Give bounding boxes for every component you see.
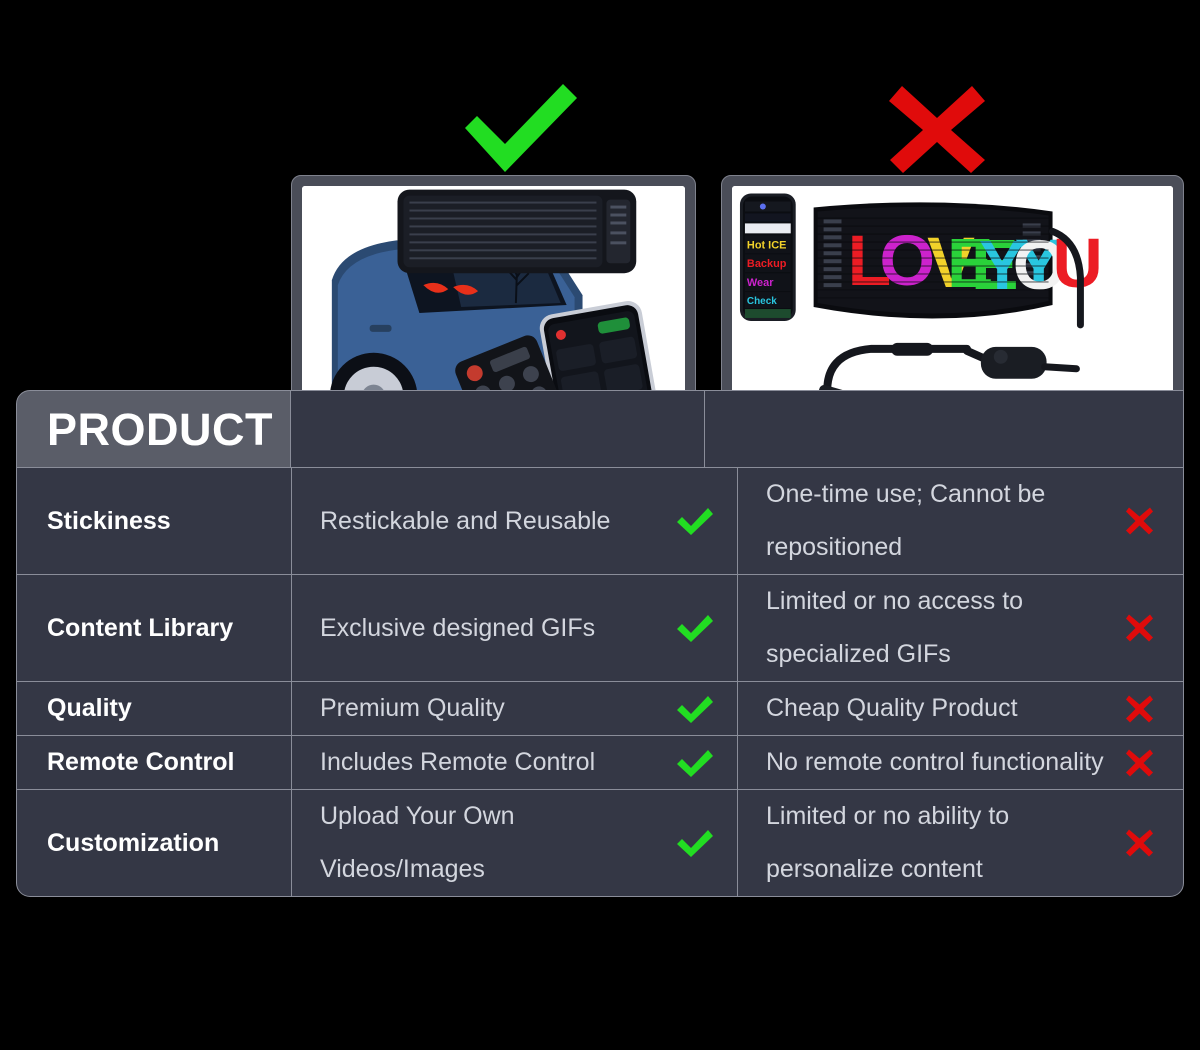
table-row: Remote Control Includes Remote Control N… <box>16 736 1184 790</box>
feature-label: Content Library <box>17 575 292 681</box>
theirs-value-cell: No remote control functionality <box>738 736 1183 789</box>
theirs-value-text: One-time use; Cannot be repositioned <box>766 468 1113 574</box>
red-cross-icon <box>1124 506 1155 537</box>
ours-value-cell: Exclusive designed GIFs <box>292 575 738 681</box>
theirs-value-text: Cheap Quality Product <box>766 682 1018 735</box>
feature-label: Remote Control <box>17 736 292 789</box>
table-row: Customization Upload Your Own Videos/Ima… <box>16 790 1184 897</box>
theirs-value-cell: Limited or no ability to personalize con… <box>738 790 1183 896</box>
svg-text:Backup: Backup <box>747 258 787 270</box>
product-header-cell: PRODUCT <box>16 390 291 468</box>
red-cross-icon <box>1124 693 1155 724</box>
feature-label: Stickiness <box>17 468 292 574</box>
green-check-icon <box>455 78 583 174</box>
theirs-value-text: Limited or no ability to personalize con… <box>766 790 1113 896</box>
ours-value-text: Restickable and Reusable <box>320 495 610 548</box>
theirs-value-cell: One-time use; Cannot be repositioned <box>738 468 1183 574</box>
table-row: Stickiness Restickable and Reusable One-… <box>16 468 1184 575</box>
red-cross-icon <box>1124 747 1155 778</box>
svg-text:Check: Check <box>747 296 777 307</box>
ours-value-cell: Restickable and Reusable <box>292 468 738 574</box>
theirs-value-cell: Limited or no access to specialized GIFs <box>738 575 1183 681</box>
red-cross-icon <box>1124 828 1155 859</box>
ours-value-cell: Includes Remote Control <box>292 736 738 789</box>
header-band-divider <box>704 391 705 467</box>
green-check-icon <box>675 747 715 779</box>
feature-label: Customization <box>17 790 292 896</box>
feature-label: Quality <box>17 682 292 735</box>
theirs-value-text: Limited or no access to specialized GIFs <box>766 575 1113 681</box>
svg-text:Wear: Wear <box>747 277 774 289</box>
comparison-page: Hot ICE Backup Wear Check <box>0 0 1200 1050</box>
ours-value-text: Premium Quality <box>320 682 505 735</box>
theirs-value-cell: Cheap Quality Product <box>738 682 1183 735</box>
ours-value-text: Upload Your Own Videos/Images <box>320 790 667 896</box>
theirs-value-text: No remote control functionality <box>766 736 1104 789</box>
green-check-icon <box>675 612 715 644</box>
red-cross-icon <box>1124 613 1155 644</box>
ours-value-cell: Upload Your Own Videos/Images <box>292 790 738 896</box>
green-check-icon <box>675 827 715 859</box>
page-title: PRODUCT <box>47 407 273 452</box>
ours-value-cell: Premium Quality <box>292 682 738 735</box>
green-check-icon <box>675 505 715 537</box>
green-check-icon <box>675 693 715 725</box>
table-row: Quality Premium Quality Cheap Quality Pr… <box>16 682 1184 736</box>
header-band <box>291 390 1184 468</box>
table-row: Content Library Exclusive designed GIFs … <box>16 575 1184 682</box>
svg-text:Hot ICE: Hot ICE <box>747 239 787 251</box>
verdict-marks <box>0 78 1200 174</box>
ours-value-text: Exclusive designed GIFs <box>320 602 595 655</box>
ours-value-text: Includes Remote Control <box>320 736 595 789</box>
red-cross-icon <box>885 80 989 174</box>
